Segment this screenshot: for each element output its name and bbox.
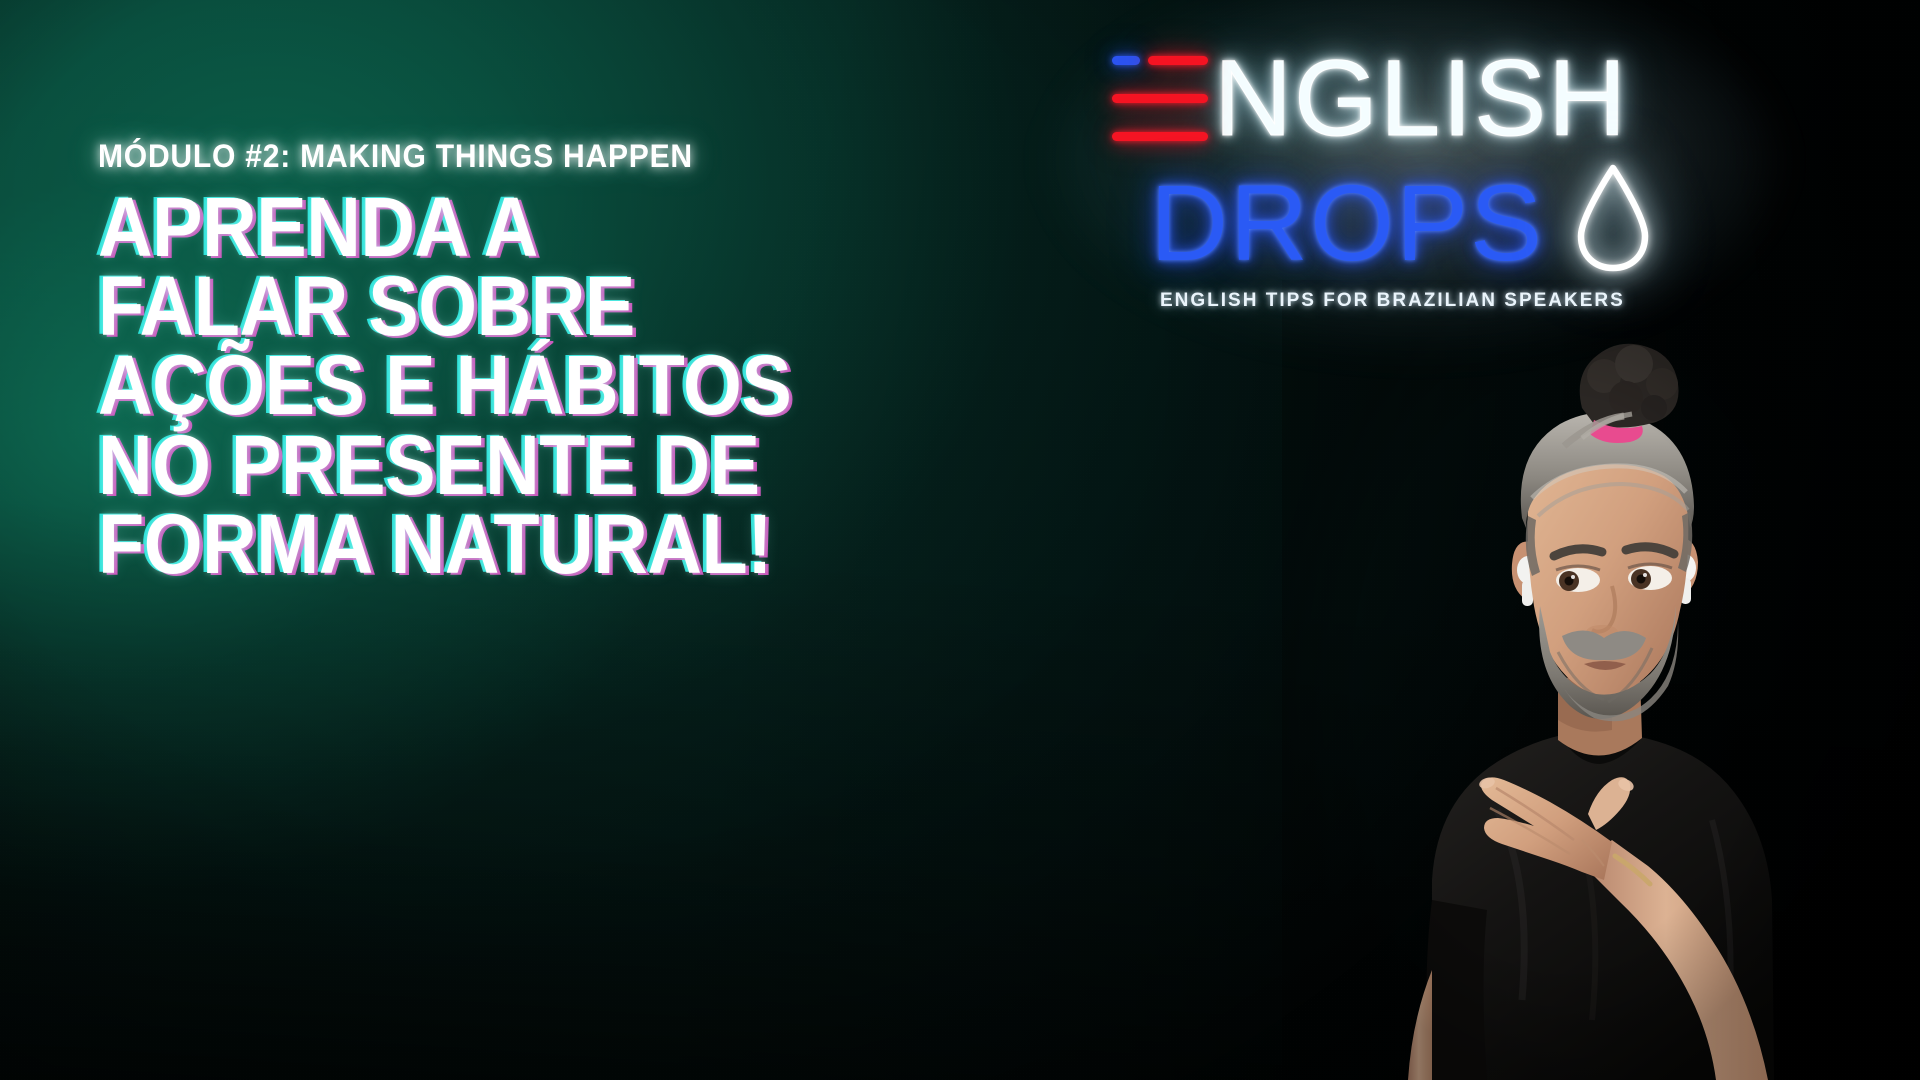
- logo-e-bar-bottom: [1112, 132, 1208, 141]
- module-kicker: MÓDULO #2: MAKING THINGS HAPPEN: [98, 140, 944, 174]
- english-drops-logo: NGLISH DROPS ENGLISH TIPS FOR BRAZILIAN …: [1112, 18, 1712, 298]
- headline-line-5: FORMA NATURAL! FORMA NATURAL! FORMA NATU…: [98, 505, 908, 584]
- presenter-photo: [1282, 280, 1842, 1080]
- water-drop-icon: [1570, 160, 1656, 281]
- logo-word-drops: DROPS: [1150, 177, 1544, 270]
- headline-line-3: AÇÕES E HÁBITOS AÇÕES E HÁBITOS AÇÕES E …: [98, 346, 908, 425]
- headline-block: MÓDULO #2: MAKING THINGS HAPPEN APRENDA …: [98, 140, 998, 584]
- logo-primary-row: NGLISH: [1112, 52, 1628, 145]
- logo-e-bar-top-blue: [1112, 56, 1140, 65]
- logo-secondary-row: DROPS: [1150, 166, 1656, 281]
- headline-line-4: NO PRESENTE DE NO PRESENTE DE NO PRESENT…: [98, 426, 908, 505]
- main-headline: APRENDA A APRENDA A APRENDA A FALAR SOBR…: [98, 188, 908, 585]
- headline-line-1: APRENDA A APRENDA A APRENDA A: [98, 188, 908, 267]
- logo-word-nglish: NGLISH: [1214, 52, 1628, 145]
- logo-e-mark-icon: [1112, 56, 1208, 144]
- logo-e-bar-top-red: [1148, 56, 1208, 65]
- logo-tagline: ENGLISH TIPS FOR BRAZILIAN SPEAKERS: [1160, 290, 1625, 312]
- headline-line-2: FALAR SOBRE FALAR SOBRE FALAR SOBRE: [98, 267, 908, 346]
- headline-line-5-text: FORMA NATURAL!: [98, 497, 772, 591]
- video-thumbnail: NGLISH DROPS ENGLISH TIPS FOR BRAZILIAN …: [0, 0, 1920, 1080]
- logo-e-bar-middle: [1112, 94, 1208, 103]
